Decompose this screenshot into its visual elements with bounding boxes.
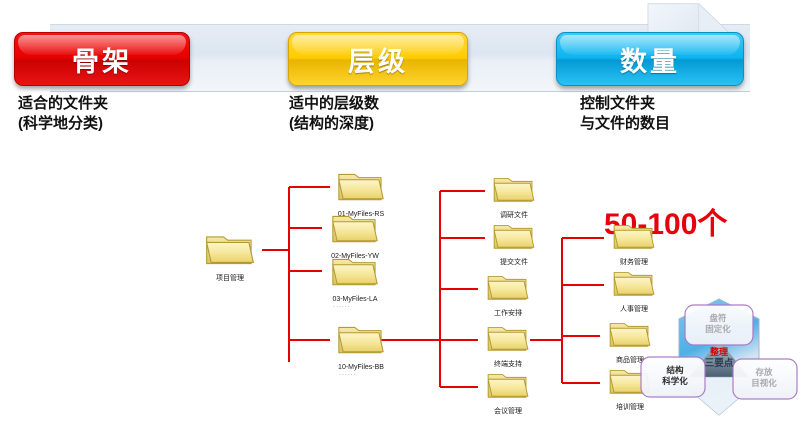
pill-level[interactable]: 层级 — [288, 32, 468, 86]
tree-node-level2[interactable]: 10-MyFiles-BB — [325, 319, 397, 372]
header-banner: 骨架 层级 数量 适合的文件夹 (科学地分类) 适中的层级数 (结构的深度) 控… — [0, 0, 810, 100]
tree-node-level3[interactable]: 终端支持 — [472, 320, 544, 369]
pill-skeleton[interactable]: 骨架 — [14, 32, 190, 86]
tree-node-root[interactable]: 项目管理 — [194, 228, 266, 283]
tree-node-level3[interactable]: 工作安排 — [472, 269, 544, 318]
tree-node-label: 提交文件 — [478, 258, 550, 267]
folder-icon — [483, 367, 533, 401]
folder-icon — [327, 208, 383, 246]
tree-node-label: 项目管理 — [194, 274, 266, 283]
tree-node-level3[interactable]: 会议管理 — [472, 367, 544, 416]
tree-node-label: 会议管理 — [472, 407, 544, 416]
tree-node-level3[interactable]: 提交文件 — [478, 218, 550, 267]
caption-quantity: 控制文件夹 与文件的数目 — [580, 94, 670, 134]
folder-icon — [483, 320, 533, 354]
hex-label-right: 存放 目视化 — [733, 367, 795, 389]
tree-node-label: 03-MyFiles-LA — [319, 295, 391, 304]
folder-icon — [609, 218, 659, 252]
tree-node-level2[interactable]: 03-MyFiles-LA — [319, 251, 391, 304]
tree-node-label: 10-MyFiles-BB — [325, 363, 397, 372]
tree-node-label: 工作安排 — [472, 309, 544, 318]
folder-icon — [489, 171, 539, 205]
folder-tree-diagram: 项目管理 01-MyFiles-RS 02-MyFiles-YW 03-MyFi… — [0, 150, 660, 431]
pill-level-label: 层级 — [348, 40, 408, 79]
folder-icon — [483, 269, 533, 303]
folder-icon — [201, 228, 259, 268]
tree-ellipsis: ...... — [339, 370, 357, 377]
tree-node-level4[interactable]: 财务管理 — [598, 218, 670, 267]
folder-icon — [489, 218, 539, 252]
organize-three-points-logo: 盘符 固定化 结构 科学化 存放 目视化 整理 三要点 — [633, 297, 805, 427]
tree-node-level3[interactable]: 调研文件 — [478, 171, 550, 220]
pill-quantity-label: 数量 — [620, 40, 680, 79]
folder-icon — [327, 251, 383, 289]
hex-center-subtitle: 三要点 — [689, 355, 749, 369]
folder-icon — [333, 319, 389, 357]
folder-icon — [333, 166, 389, 204]
caption-level: 适中的层级数 (结构的深度) — [289, 94, 379, 134]
folder-icon — [609, 265, 659, 299]
pill-quantity[interactable]: 数量 — [556, 32, 744, 86]
pill-skeleton-label: 骨架 — [72, 40, 132, 79]
caption-skeleton: 适合的文件夹 (科学地分类) — [18, 94, 108, 134]
tree-ellipsis: ...... — [333, 302, 351, 309]
hex-label-top: 盘符 固定化 — [683, 313, 753, 335]
